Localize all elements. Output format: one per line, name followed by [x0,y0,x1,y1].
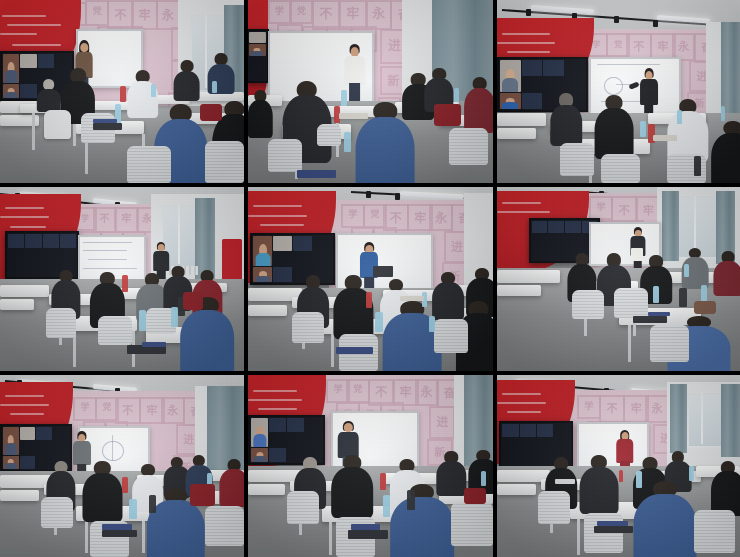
photo-collage-grid: Female presenter in brown jacket speakin… [0,0,740,557]
photo-cell-2[interactable]: Male presenter in white shirt standing c… [248,0,493,183]
photo-cell-3[interactable]: Male presenter in black writing a diagra… [497,0,740,183]
photo-cell-8[interactable]: Presenter in dark jacket and jeans addre… [248,375,493,557]
photo-cell-4[interactable]: Wide room shot: presenter in dark jacket… [0,187,244,371]
photo-cell-5[interactable]: Female presenter in blue jacket reading … [248,187,493,371]
photo-cell-7[interactable]: Presenter in grey jacket standing betwee… [0,375,244,557]
photo-cell-9[interactable]: Female presenter in red patterned outfit… [497,375,740,557]
photo-cell-6[interactable]: Room view from the back: presenter in da… [497,187,740,371]
photo-cell-1[interactable]: Female presenter in brown jacket speakin… [0,0,244,183]
